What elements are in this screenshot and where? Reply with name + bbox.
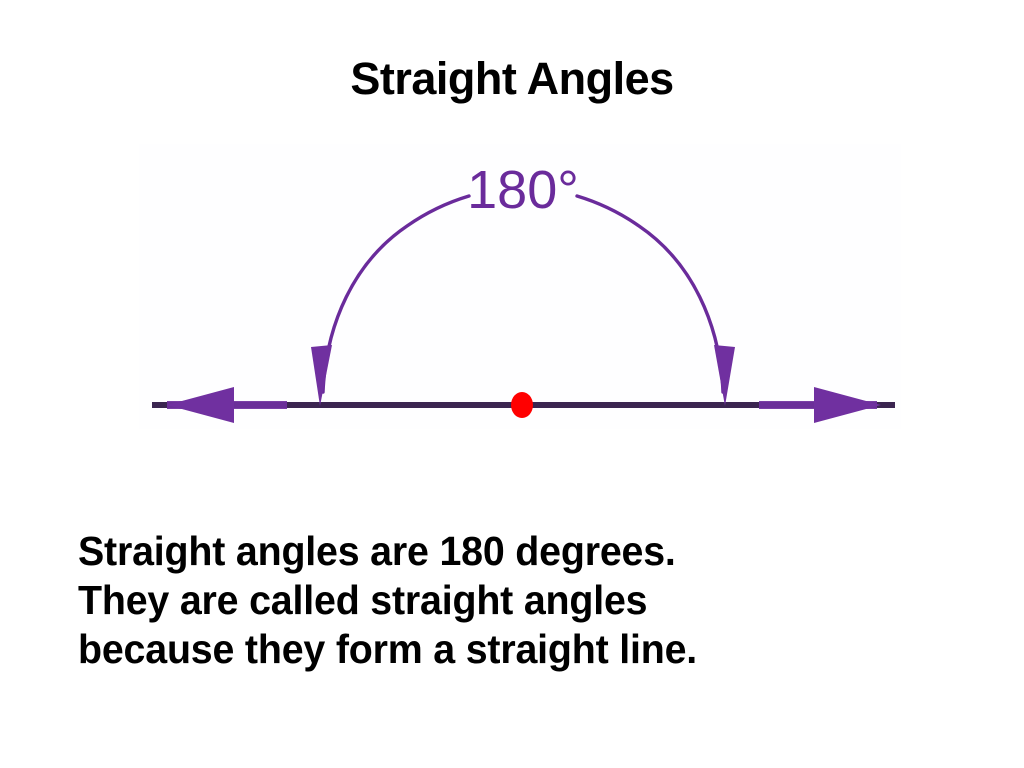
body-line-1: Straight angles are 180 degrees. [78, 527, 942, 576]
page-title: Straight Angles [0, 52, 1024, 106]
angle-arc-right-segment [577, 196, 723, 392]
body-paragraph: Straight angles are 180 degrees. They ar… [78, 527, 978, 674]
angle-arc-left-segment [323, 196, 469, 392]
left-ray-arrowhead-tip [167, 387, 234, 423]
angle-label-180: 180° [467, 160, 579, 220]
straight-angle-diagram: 180° [139, 144, 901, 429]
body-line-3: because they form a straight line. [78, 625, 942, 674]
right-ray-arrowhead [814, 387, 881, 423]
arc-right-arrowhead [714, 345, 735, 406]
vertex-dot [511, 392, 533, 418]
arc-left-arrowhead [311, 345, 332, 406]
body-line-2: They are called straight angles [78, 576, 942, 625]
